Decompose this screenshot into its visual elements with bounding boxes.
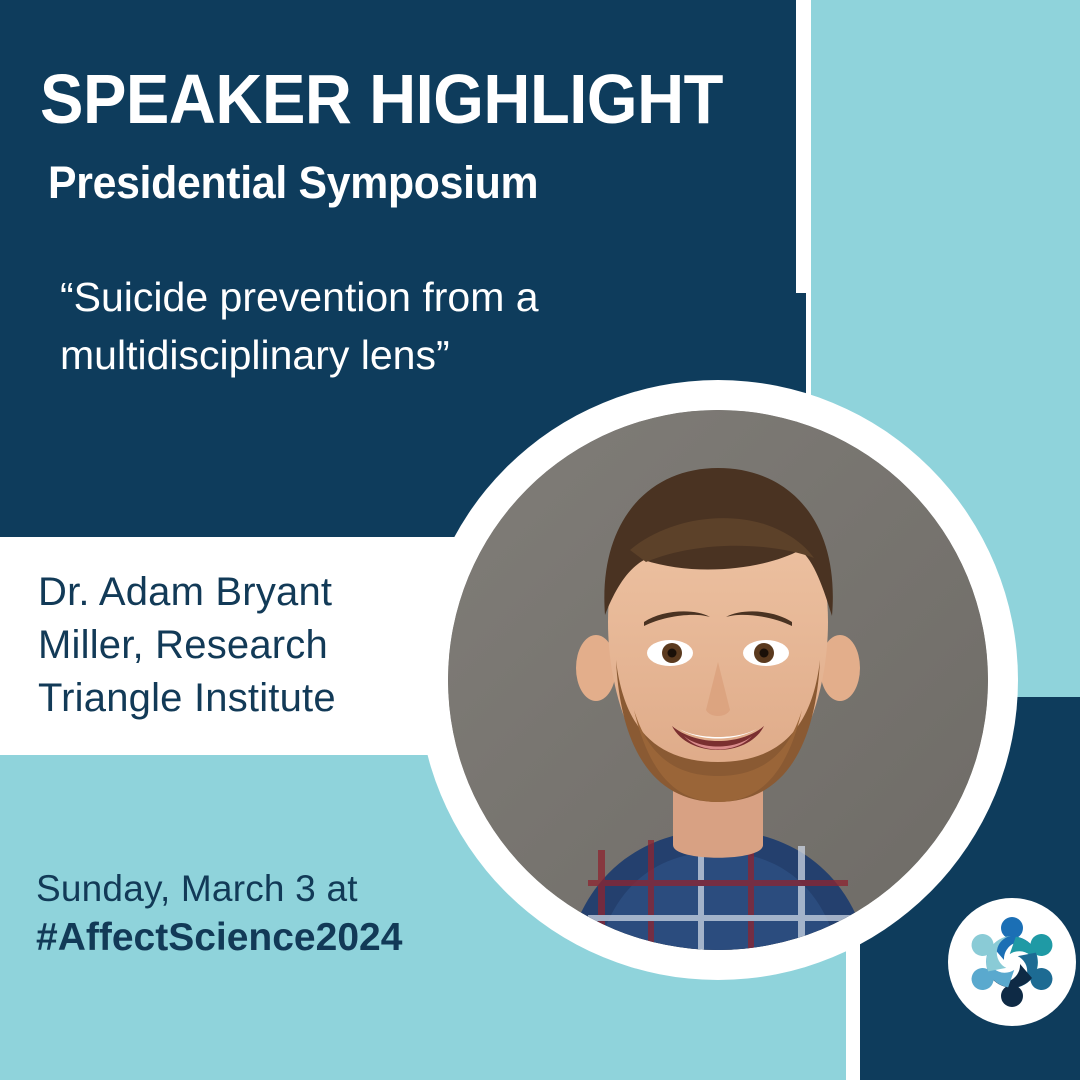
page-title: SPEAKER HIGHLIGHT (40, 62, 728, 136)
event-hashtag: #AffectScience2024 (36, 915, 402, 961)
speaker-photo (448, 410, 988, 950)
session-subtitle: Presidential Symposium (48, 158, 538, 208)
affect-science-logo (948, 898, 1076, 1026)
speaker-highlight-poster: SPEAKER HIGHLIGHT Presidential Symposium… (0, 0, 1080, 1080)
speaker-name-affiliation: Dr. Adam Bryant Miller, Research Triangl… (38, 566, 438, 725)
talk-title-quote: “Suicide prevention from a multidiscipli… (60, 268, 700, 384)
avatar (418, 380, 1018, 980)
event-date: Sunday, March 3 at (36, 867, 358, 911)
